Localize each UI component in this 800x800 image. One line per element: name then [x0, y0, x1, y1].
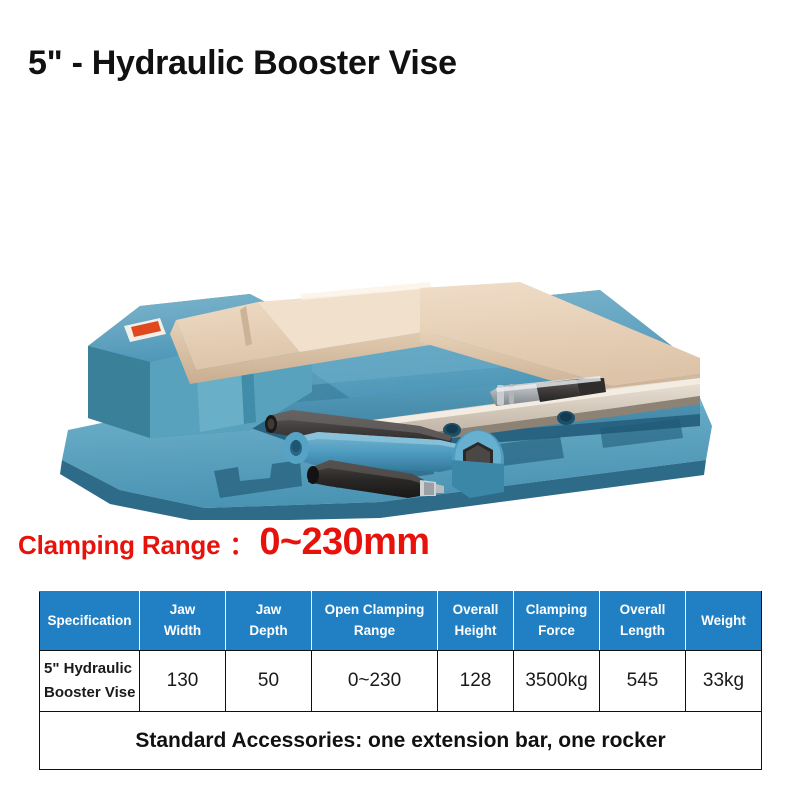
header-line-1: Weight	[686, 611, 761, 632]
header-line-1: Overall	[600, 600, 685, 621]
header-line-2: Length	[600, 621, 685, 642]
header-line-2: Height	[438, 621, 513, 642]
header-line-2: Depth	[226, 621, 311, 642]
header-line-1: Overall	[438, 600, 513, 621]
page-title: 5" - Hydraulic Booster Vise	[28, 44, 457, 83]
header-line-1: Clamping	[514, 600, 599, 621]
col-header-specification: Specification	[40, 592, 140, 651]
col-header-weight: Weight	[686, 592, 762, 651]
header-line-1: Specification	[40, 611, 139, 632]
cell-clamping-force: 3500kg	[514, 651, 600, 712]
product-photo	[0, 130, 800, 520]
table-row: 5" Hydraulic Booster Vise 130 50 0~230 1…	[40, 651, 762, 712]
clamping-range-label: Clamping Range	[18, 530, 220, 561]
standard-accessories-note: Standard Accessories: one extension bar,…	[40, 712, 762, 770]
header-line-1: Open Clamping	[312, 600, 437, 621]
col-header-jaw-width: Jaw Width	[140, 592, 226, 651]
cell-overall-height: 128	[438, 651, 514, 712]
col-header-clamping-force: Clamping Force	[514, 592, 600, 651]
table-header-row: Specification Jaw Width Jaw Depth Open C…	[40, 592, 762, 651]
spec-name-line-1: 5" Hydraulic	[44, 657, 139, 681]
col-header-jaw-depth: Jaw Depth	[226, 592, 312, 651]
header-line-1: Jaw	[226, 600, 311, 621]
col-header-overall-height: Overall Height	[438, 592, 514, 651]
col-header-open-clamping-range: Open Clamping Range	[312, 592, 438, 651]
header-line-2: Force	[514, 621, 599, 642]
col-header-overall-length: Overall Length	[600, 592, 686, 651]
cell-weight: 33kg	[686, 651, 762, 712]
clamping-range-colon: ：	[220, 526, 259, 562]
cell-jaw-depth: 50	[226, 651, 312, 712]
header-line-1: Jaw	[140, 600, 225, 621]
table-footer-row: Standard Accessories: one extension bar,…	[40, 712, 762, 770]
vise-illustration	[0, 130, 800, 520]
header-line-2: Width	[140, 621, 225, 642]
clamping-range-banner: Clamping Range ： 0~230mm	[18, 521, 429, 564]
header-line-2: Range	[312, 621, 437, 642]
cell-jaw-width: 130	[140, 651, 226, 712]
cell-open-clamping-range: 0~230	[312, 651, 438, 712]
clamping-range-value: 0~230mm	[259, 521, 429, 564]
cell-overall-length: 545	[600, 651, 686, 712]
cell-specification: 5" Hydraulic Booster Vise	[40, 651, 140, 712]
specification-table: Specification Jaw Width Jaw Depth Open C…	[39, 591, 762, 770]
spec-name-line-2: Booster Vise	[44, 681, 139, 705]
